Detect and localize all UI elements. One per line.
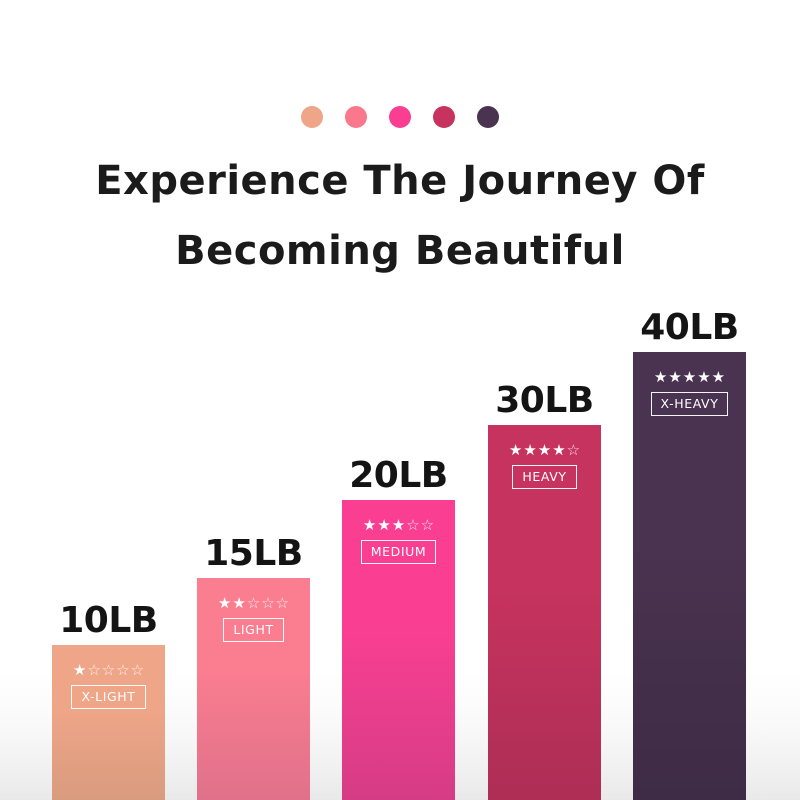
star-filled-icon: ★ xyxy=(218,596,231,611)
bar-column-40lb[interactable]: 40LB★★★★★X-HEAVY xyxy=(633,352,746,800)
bar-body: ★☆☆☆☆X-LIGHT xyxy=(52,645,165,800)
star-rating: ★★★★☆ xyxy=(509,443,580,458)
resistance-level-badge: X-LIGHT xyxy=(71,685,145,709)
star-filled-icon: ★ xyxy=(538,443,551,458)
bar-content: ★★☆☆☆LIGHT xyxy=(197,596,310,642)
bar-fill xyxy=(633,352,746,800)
star-empty-icon: ☆ xyxy=(87,663,100,678)
bar-column-30lb[interactable]: 30LB★★★★☆HEAVY xyxy=(488,425,601,800)
star-filled-icon: ★ xyxy=(697,370,710,385)
star-filled-icon: ★ xyxy=(377,518,390,533)
bar-column-10lb[interactable]: 10LB★☆☆☆☆X-LIGHT xyxy=(52,645,165,800)
star-filled-icon: ★ xyxy=(683,370,696,385)
bar-weight-label: 15LB xyxy=(204,533,302,574)
star-filled-icon: ★ xyxy=(712,370,725,385)
star-empty-icon: ☆ xyxy=(421,518,434,533)
bar-column-20lb[interactable]: 20LB★★★☆☆MEDIUM xyxy=(342,500,455,800)
resistance-level-badge: LIGHT xyxy=(223,618,283,642)
bar-content: ★★★★★X-HEAVY xyxy=(633,370,746,416)
bar-weight-label: 30LB xyxy=(495,380,593,421)
star-empty-icon: ☆ xyxy=(102,663,115,678)
star-rating: ★★★★★ xyxy=(654,370,725,385)
bar-content: ★★★☆☆MEDIUM xyxy=(342,518,455,564)
star-filled-icon: ★ xyxy=(363,518,376,533)
star-rating: ★★★☆☆ xyxy=(363,518,434,533)
star-empty-icon: ☆ xyxy=(261,596,274,611)
star-rating: ★☆☆☆☆ xyxy=(73,663,144,678)
star-empty-icon: ☆ xyxy=(131,663,144,678)
star-filled-icon: ★ xyxy=(654,370,667,385)
bar-content: ★☆☆☆☆X-LIGHT xyxy=(52,663,165,709)
resistance-level-badge: X-HEAVY xyxy=(651,392,729,416)
star-filled-icon: ★ xyxy=(523,443,536,458)
star-filled-icon: ★ xyxy=(509,443,522,458)
bar-weight-label: 10LB xyxy=(59,600,157,641)
star-filled-icon: ★ xyxy=(552,443,565,458)
bar-weight-label: 20LB xyxy=(349,455,447,496)
star-filled-icon: ★ xyxy=(668,370,681,385)
star-filled-icon: ★ xyxy=(392,518,405,533)
bar-weight-label: 40LB xyxy=(640,307,738,348)
bar-content: ★★★★☆HEAVY xyxy=(488,443,601,489)
bar-column-15lb[interactable]: 15LB★★☆☆☆LIGHT xyxy=(197,578,310,800)
resistance-level-badge: HEAVY xyxy=(512,465,576,489)
bar-body: ★★★★☆HEAVY xyxy=(488,425,601,800)
star-empty-icon: ☆ xyxy=(247,596,260,611)
star-filled-icon: ★ xyxy=(73,663,86,678)
bar-body: ★★★☆☆MEDIUM xyxy=(342,500,455,800)
bar-body: ★★☆☆☆LIGHT xyxy=(197,578,310,800)
resistance-level-bar-chart: 10LB★☆☆☆☆X-LIGHT15LB★★☆☆☆LIGHT20LB★★★☆☆M… xyxy=(0,0,800,800)
bar-body: ★★★★★X-HEAVY xyxy=(633,352,746,800)
resistance-band-infographic: Experience The Journey Of Becoming Beaut… xyxy=(0,0,800,800)
star-empty-icon: ☆ xyxy=(276,596,289,611)
star-rating: ★★☆☆☆ xyxy=(218,596,289,611)
star-empty-icon: ☆ xyxy=(406,518,419,533)
star-empty-icon: ☆ xyxy=(116,663,129,678)
resistance-level-badge: MEDIUM xyxy=(361,540,437,564)
star-filled-icon: ★ xyxy=(232,596,245,611)
star-empty-icon: ☆ xyxy=(567,443,580,458)
